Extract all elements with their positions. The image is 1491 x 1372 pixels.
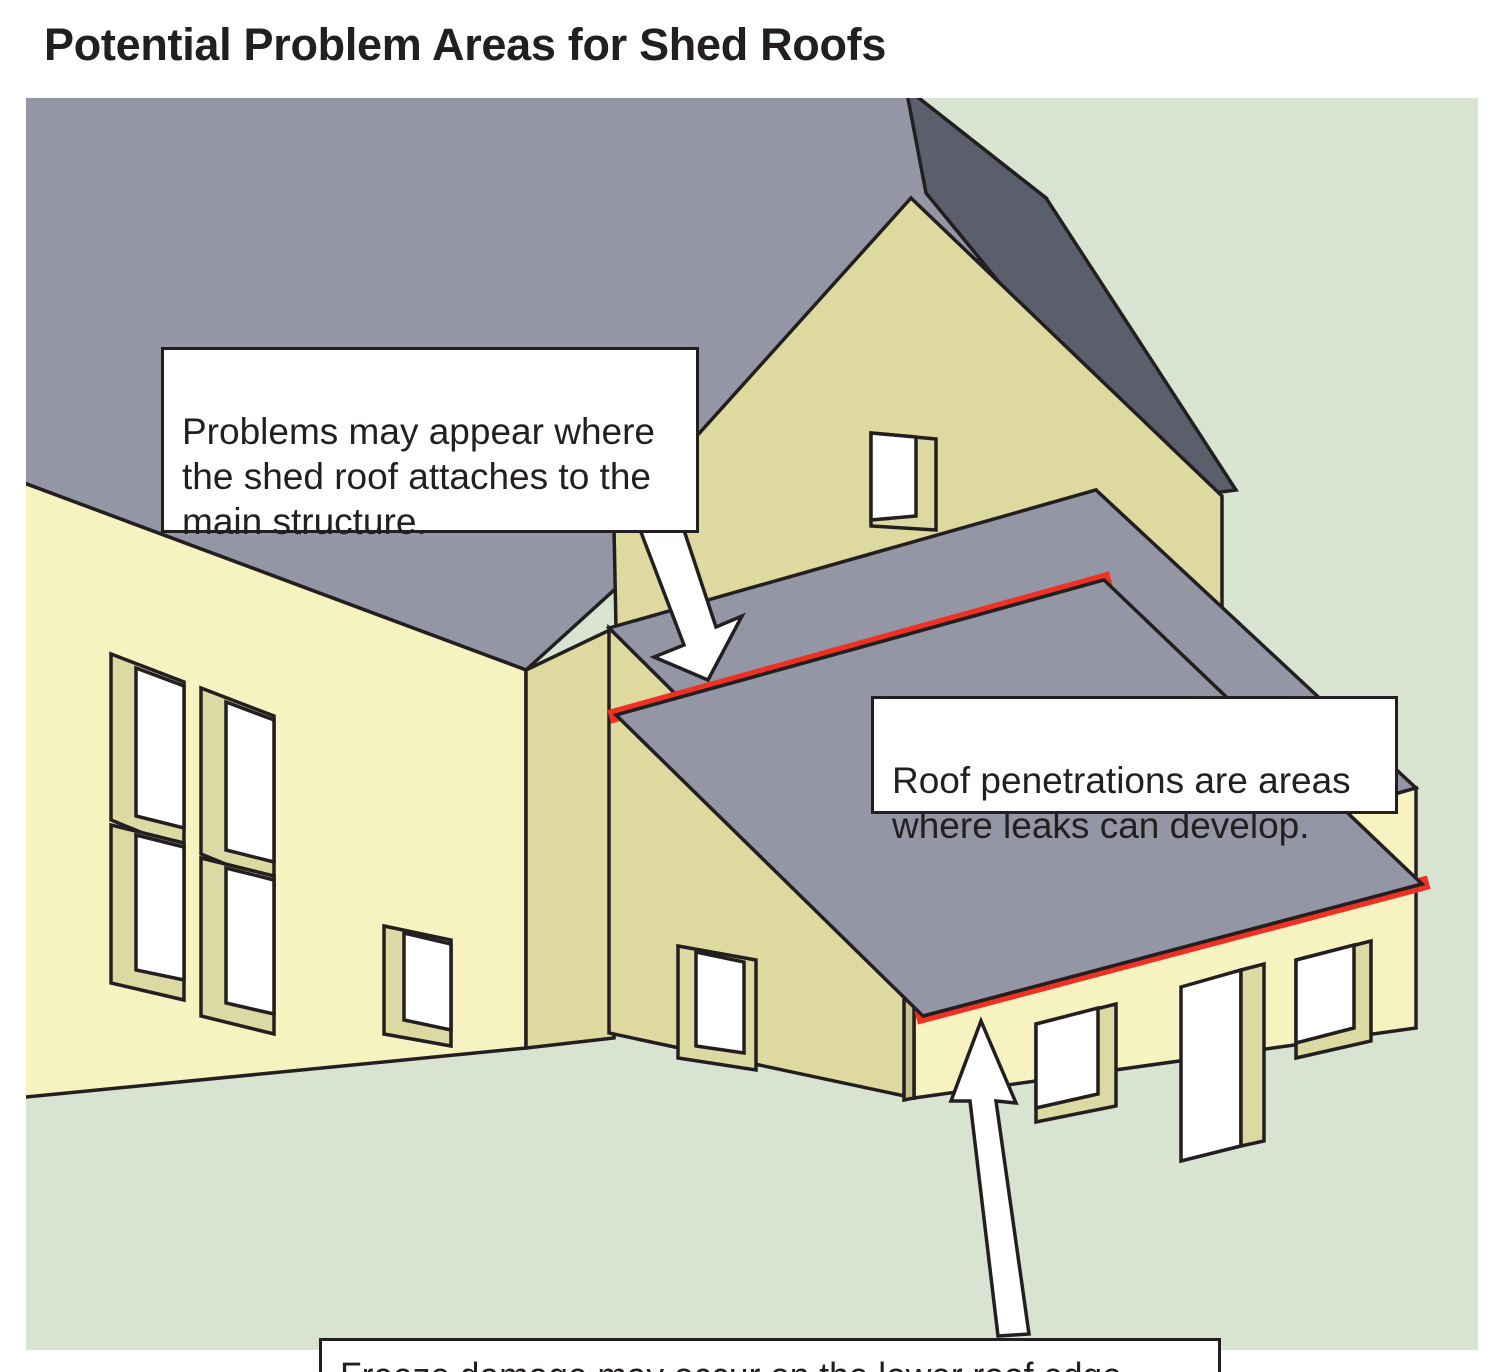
window-glass [1036,1008,1098,1108]
house-illustration: Problems may appear where the shed roof … [26,98,1478,1350]
window-group-gable [871,433,936,530]
page-title: Potential Problem Areas for Shed Roofs [44,14,1244,76]
callout-text: Freeze damage may occur on the lower roo… [340,1349,1142,1372]
window-group-shed-left [678,946,756,1070]
window-glass [136,835,184,980]
callout-shed-roof-attachment[interactable]: Problems may appear where the shed roof … [161,347,699,533]
window-glass [226,868,274,1014]
callout-freeze-damage[interactable]: Freeze damage may occur on the lower roo… [319,1338,1221,1372]
window-glass [404,933,451,1030]
window-glass [871,433,916,520]
callout-text: Problems may appear where the shed roof … [182,411,655,542]
diagram-page: Potential Problem Areas for Shed Roofs [0,0,1491,1372]
window-glass [226,702,274,862]
callout-roof-penetrations[interactable]: Roof penetrations are areas where leaks … [871,696,1398,814]
window-glass [696,952,744,1053]
main-front-wall [526,628,614,1048]
callout-text: Roof penetrations are areas where leaks … [892,760,1351,846]
door-jamb [1241,964,1264,1146]
entry-door [1181,970,1241,1161]
window-glass [1296,945,1354,1043]
window-glass [136,668,184,828]
